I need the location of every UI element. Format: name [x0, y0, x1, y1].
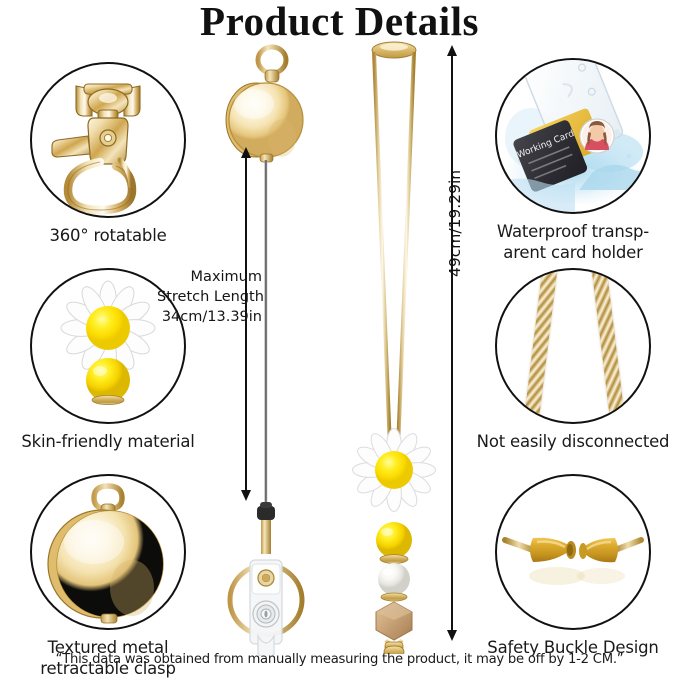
caption-waterproof-line1: Waterproof transp- — [473, 221, 673, 242]
feature-circle-cord — [495, 268, 651, 424]
swivel-lobster-clasp-icon — [32, 64, 184, 216]
product-details-infographic: Product Details — [0, 0, 679, 680]
caption-rotatable: 360° rotatable — [8, 225, 208, 246]
lanyard-product-image — [352, 40, 460, 654]
stretch-label-line2: Stretch Length — [157, 287, 262, 307]
feature-retractable-clasp: Textured metal retractable clasp — [8, 474, 208, 679]
stretch-label-line1: Maximum — [157, 267, 262, 287]
caption-waterproof: Waterproof transp- arent card holder — [473, 221, 673, 263]
caption-waterproof-line2: arent card holder — [473, 242, 673, 263]
braided-cord-left-icon — [522, 268, 558, 424]
stretch-label-line3: 34cm/13.39in — [157, 307, 262, 327]
product-daisy-beaded-lanyard — [352, 40, 460, 654]
retractable-reel-icon — [32, 476, 184, 628]
braided-cord-right-icon — [591, 268, 627, 424]
page-title: Product Details — [0, 0, 679, 44]
total-length-dimension-line — [451, 55, 453, 635]
feature-circle-safety-buckle — [495, 474, 651, 630]
measurement-disclaimer: “This data was obtained from manually me… — [0, 652, 679, 667]
feature-circle-waterproof: Working Card — [495, 58, 651, 214]
feature-safety-buckle: Safety Buckle Design — [473, 474, 673, 658]
waterproof-card-holder-icon: Working Card — [497, 60, 649, 212]
total-length-arrow-down-icon — [447, 630, 457, 641]
feature-circle-rotatable — [30, 62, 186, 218]
caption-not-easily-disconnected: Not easily disconnected — [473, 431, 673, 452]
stretch-length-label: Maximum Stretch Length 34cm/13.39in — [157, 267, 262, 327]
feature-waterproof-card-holder: Working Card — [473, 58, 673, 263]
caption-skin-friendly: Skin-friendly material — [8, 431, 208, 452]
feature-not-easily-disconnected: Not easily disconnected — [473, 268, 673, 452]
feature-360-rotatable: 360° rotatable — [8, 62, 208, 246]
feature-circle-retractable-clasp — [30, 474, 186, 630]
retractable-reel-product-image — [216, 44, 326, 656]
stretch-arrow-down-icon — [241, 490, 251, 501]
safety-breakaway-buckle-icon — [497, 476, 649, 628]
product-retractable-badge-reel — [216, 44, 326, 656]
total-length-label: 49cm/19.29in — [446, 170, 464, 277]
